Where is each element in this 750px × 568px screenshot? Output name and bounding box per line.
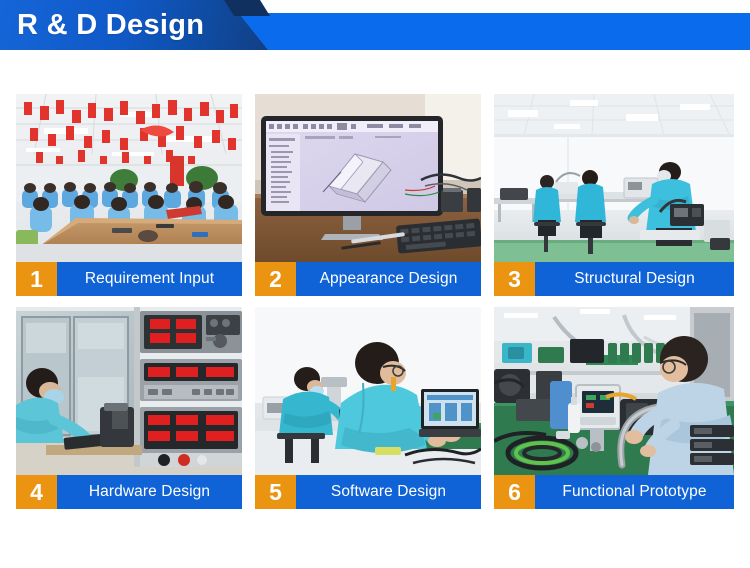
card-number-badge: 5 (255, 475, 296, 509)
photo-software-design (255, 307, 481, 475)
card-label: Hardware Design (57, 475, 242, 509)
card-number-badge: 2 (255, 262, 296, 296)
process-card[interactable]: 4 Hardware Design (16, 307, 242, 509)
photo-structural-design (494, 94, 734, 262)
card-label: Appearance Design (296, 262, 481, 296)
process-card-grid: 1 Requirement Input (16, 94, 734, 509)
process-card[interactable]: 3 Structural Design (494, 94, 734, 296)
photo-hardware-design (16, 307, 242, 475)
card-caption: 5 Software Design (255, 475, 481, 509)
card-caption: 1 Requirement Input (16, 262, 242, 296)
card-caption: 4 Hardware Design (16, 475, 242, 509)
process-card[interactable]: 2 Appearance Design (255, 94, 481, 296)
process-card[interactable]: 1 Requirement Input (16, 94, 242, 296)
card-label: Functional Prototype (535, 475, 734, 509)
card-number-badge: 3 (494, 262, 535, 296)
card-label: Software Design (296, 475, 481, 509)
card-number-badge: 1 (16, 262, 57, 296)
card-label: Structural Design (535, 262, 734, 296)
photo-appearance-design (255, 94, 481, 262)
process-card[interactable]: 6 Functional Prototype (494, 307, 734, 509)
card-number-badge: 6 (494, 475, 535, 509)
page-header: R & D Design (0, 0, 750, 50)
process-card[interactable]: 5 Software Design (255, 307, 481, 509)
header-accent-bar (240, 13, 750, 50)
page-title: R & D Design (17, 7, 204, 43)
photo-requirement-input (16, 94, 242, 262)
card-label: Requirement Input (57, 262, 242, 296)
card-caption: 6 Functional Prototype (494, 475, 734, 509)
card-caption: 2 Appearance Design (255, 262, 481, 296)
card-caption: 3 Structural Design (494, 262, 734, 296)
card-number-badge: 4 (16, 475, 57, 509)
photo-functional-prototype (494, 307, 734, 475)
